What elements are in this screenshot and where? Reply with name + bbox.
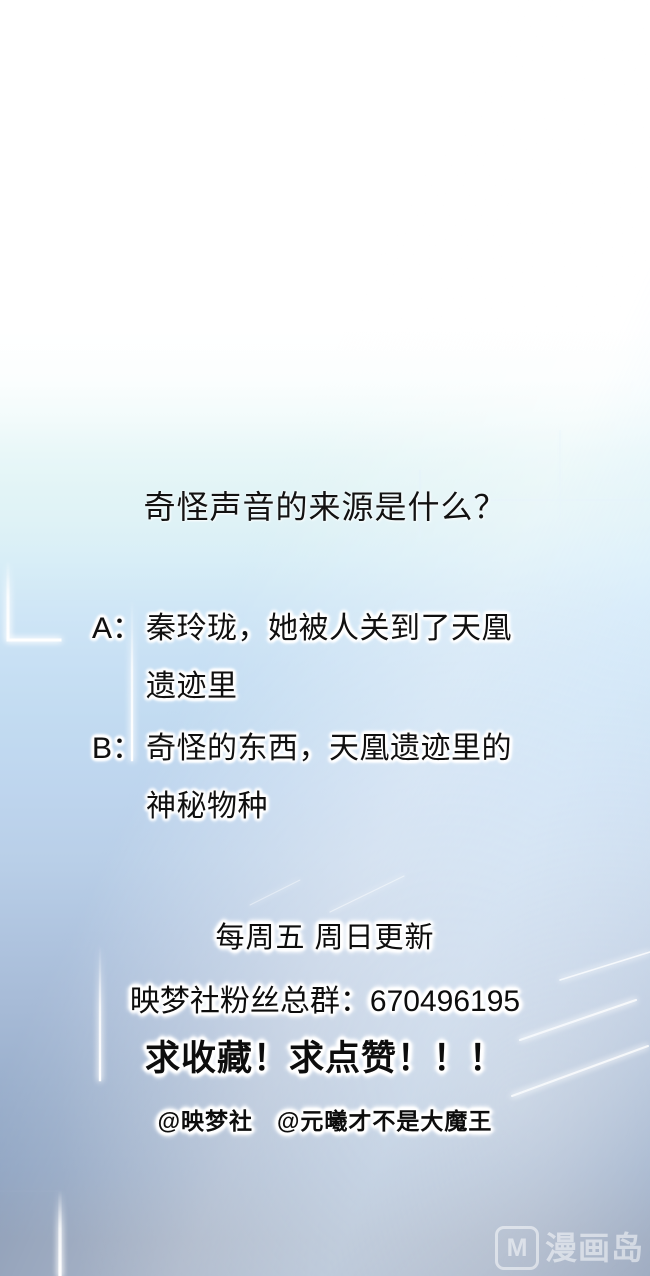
option-a-key: A：: [92, 600, 146, 658]
option-b-text: 奇怪的东西，天凰遗迹里的 神秘物种: [146, 720, 612, 836]
option-a[interactable]: A： 秦玲珑，她被人关到了天凰 遗迹里: [92, 600, 612, 716]
comic-panel-page: 奇怪声音的来源是什么？ A： 秦玲珑，她被人关到了天凰 遗迹里 B： 奇怪的东西…: [0, 0, 650, 1276]
option-b-line-1: 奇怪的东西，天凰遗迹里的: [146, 732, 512, 765]
update-schedule-text: 每周五 周日更新: [0, 915, 650, 961]
answer-options-list: A： 秦玲珑，她被人关到了天凰 遗迹里 B： 奇怪的东西，天凰遗迹里的 神秘物种: [92, 600, 612, 840]
fan-group-text: 映梦社粉丝总群：670496195: [0, 979, 650, 1025]
credits-text: @映梦社 @元曦才不是大魔王: [0, 1103, 650, 1139]
option-a-line-1: 秦玲珑，她被人关到了天凰: [146, 612, 512, 645]
option-b[interactable]: B： 奇怪的东西，天凰遗迹里的 神秘物种: [92, 720, 612, 836]
manhuadao-logo-icon: M: [495, 1226, 539, 1270]
watermark-label: 漫画岛: [545, 1232, 644, 1264]
promo-block: 每周五 周日更新 映梦社粉丝总群：670496195 求收藏！求点赞！！！ @映…: [0, 915, 650, 1139]
site-watermark: M 漫画岛: [495, 1226, 644, 1270]
call-to-action-text: 求收藏！求点赞！！！: [0, 1033, 650, 1085]
question-title: 奇怪声音的来源是什么？: [0, 487, 650, 527]
option-b-key: B：: [92, 720, 146, 778]
option-a-text: 秦玲珑，她被人关到了天凰 遗迹里: [146, 600, 612, 716]
option-a-line-2: 遗迹里: [146, 670, 238, 703]
panel-content: 奇怪声音的来源是什么？ A： 秦玲珑，她被人关到了天凰 遗迹里 B： 奇怪的东西…: [0, 0, 650, 1276]
option-b-line-2: 神秘物种: [146, 790, 268, 823]
